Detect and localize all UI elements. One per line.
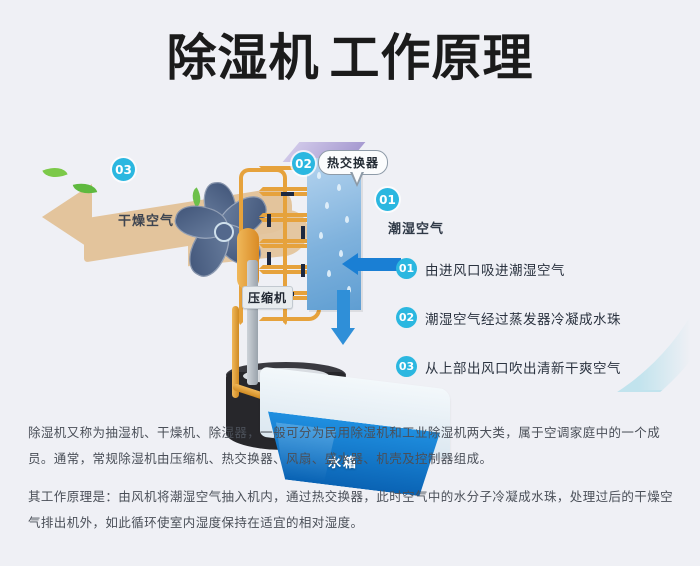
steps-list: 01 由进风口吸进潮湿空气 02 潮湿空气经过蒸发器冷凝成水珠 03 从上部出风… xyxy=(396,258,686,405)
dry-air-label: 干燥空气 xyxy=(118,210,174,229)
humid-air-label: 潮湿空气 xyxy=(388,218,444,237)
page-title: 除湿机工作原理 xyxy=(0,28,700,88)
description-block: 除湿机又称为抽湿机、干燥机、除湿器，一般可分为民用除湿机和工业除湿机两大类，属于… xyxy=(28,420,676,548)
diagram-badge-02: 02 xyxy=(292,152,315,175)
page-title-part2: 工作原理 xyxy=(330,29,534,87)
step-text: 从上部出风口吹出清新干爽空气 xyxy=(425,357,621,377)
list-item: 02 潮湿空气经过蒸发器冷凝成水珠 xyxy=(396,307,686,328)
step-text: 潮湿空气经过蒸发器冷凝成水珠 xyxy=(425,308,621,328)
compressor-label: 压缩机 xyxy=(242,286,293,309)
step-badge: 02 xyxy=(396,307,417,328)
compressor-column xyxy=(247,260,258,385)
list-item: 03 从上部出风口吹出清新干爽空气 xyxy=(396,356,686,377)
page-title-part1: 除湿机 xyxy=(167,29,320,87)
step-badge: 01 xyxy=(396,258,417,279)
description-paragraph-2: 其工作原理是：由风机将潮湿空气抽入机内，通过热交换器，此时空气中的水分子冷凝成水… xyxy=(28,484,676,536)
step-badge: 03 xyxy=(396,356,417,377)
infographic-page: 除湿机工作原理 干燥空气 xyxy=(0,0,700,566)
condensate-flow-arrow xyxy=(337,290,350,330)
leaf-icon xyxy=(42,162,67,182)
diagram-badge-03: 03 xyxy=(112,158,135,181)
callout-pointer-icon xyxy=(350,172,364,187)
diagram-badge-01: 01 xyxy=(376,188,399,211)
dry-air-arrow-head xyxy=(42,184,92,250)
list-item: 01 由进风口吸进潮湿空气 xyxy=(396,258,686,279)
step-text: 由进风口吸进潮湿空气 xyxy=(425,259,565,279)
humid-air-inlet-arrow xyxy=(357,258,401,271)
description-paragraph-1: 除湿机又称为抽湿机、干燥机、除湿器，一般可分为民用除湿机和工业除湿机两大类，属于… xyxy=(28,420,676,472)
